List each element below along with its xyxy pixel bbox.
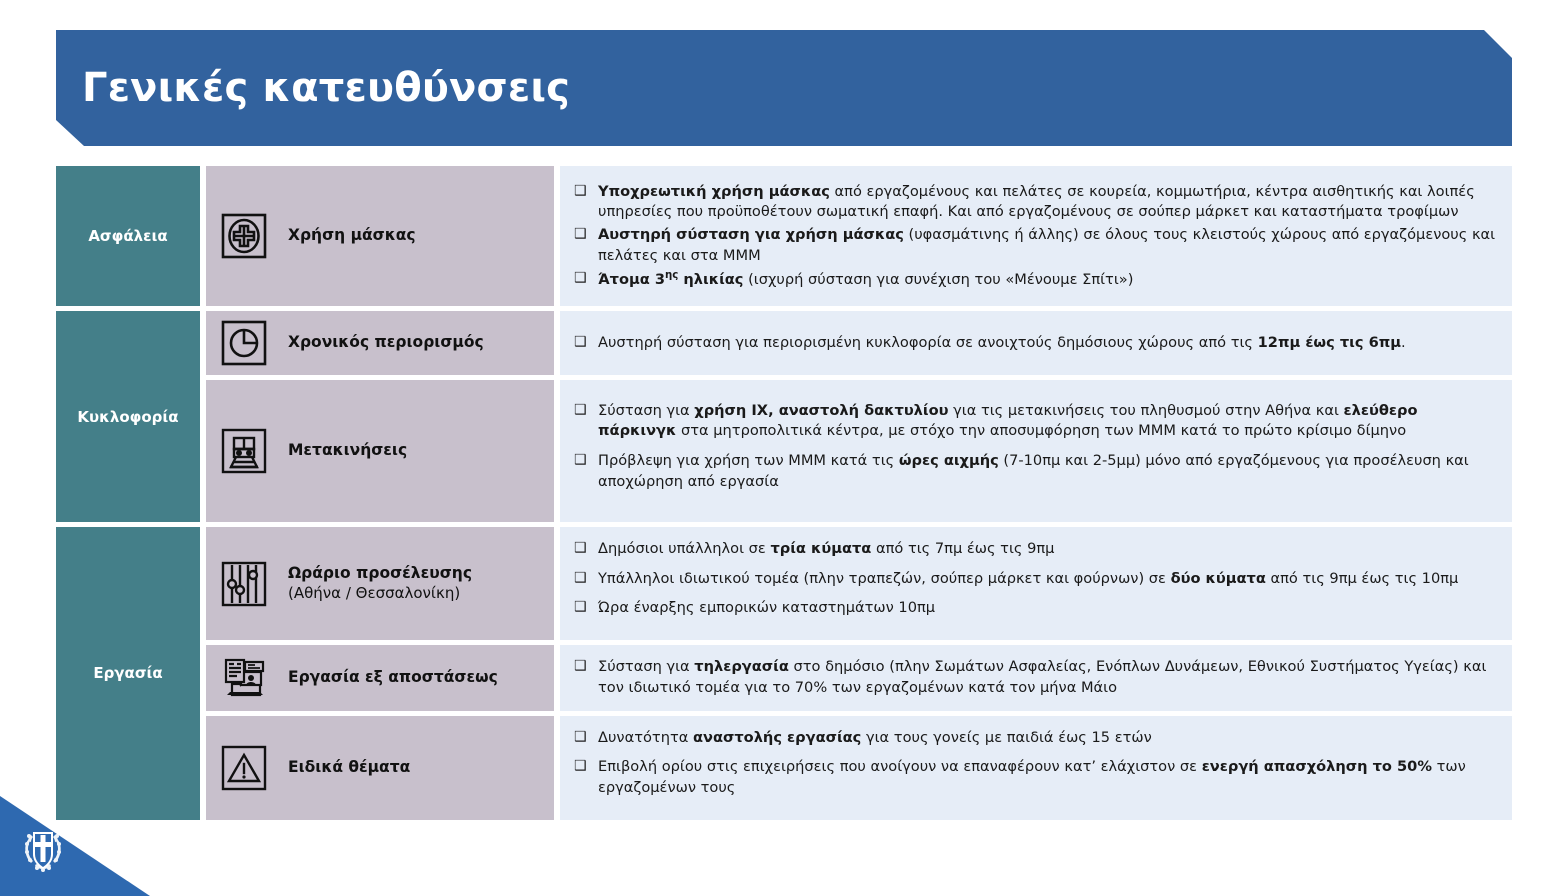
bullet-square-icon: ❑	[574, 728, 587, 748]
bullet-pre: Πρόβλεψη για χρήση των ΜΜΜ κατά τις	[598, 452, 899, 469]
bullet-square-icon: ❑	[574, 182, 587, 202]
category-label-asfaleia: Ασφάλεια	[56, 166, 200, 306]
list-item: ❑ Ώρα έναρξης εμπορικών καταστημάτων 10π…	[574, 598, 1496, 619]
bullet-pre: Υπάλληλοι ιδιωτικού τομέα (πλην τραπεζών…	[598, 570, 1171, 587]
bullet-post: για τους γονείς με παιδιά έως 15 ετών	[861, 729, 1151, 746]
icon-cell-remote[interactable]: Εργασία εξ αποστάσεως	[206, 645, 554, 710]
row-label: Ειδικά θέματα	[288, 758, 410, 778]
row-label-text: Ειδικά θέματα	[288, 758, 410, 776]
bullet-pre: Δυνατότητα	[598, 729, 693, 746]
text-cell-curfew: ❑ Αυστηρή σύσταση για περιορισμένη κυκλο…	[560, 311, 1512, 375]
bullet-bold: δύο κύματα	[1171, 570, 1266, 587]
bullet-pre: Ώρα έναρξης εμπορικών καταστημάτων 10πμ	[598, 599, 935, 616]
bullet-mid: για τις μετακινήσεις του πληθυσμού στην …	[948, 402, 1343, 419]
bullet-bold: αναστολής εργασίας	[693, 729, 861, 746]
row-label-text: Μετακινήσεις	[288, 441, 407, 459]
list-item: ❑ Δυνατότητα αναστολής εργασίας για τους…	[574, 728, 1496, 749]
section-kykloforia: Κυκλοφορία Χρονικός περιορισμός	[56, 311, 1512, 522]
train-icon	[216, 423, 272, 479]
bullet-pre: Δημόσιοι υπάλληλοι σε	[598, 540, 770, 557]
bullet-pre: Σύσταση για	[598, 658, 694, 675]
section-rows: Χρήση μάσκας ❑ Υποχρεωτική χρήση μάσκας …	[200, 166, 1512, 306]
bullet-square-icon: ❑	[574, 539, 587, 559]
row-label: Ωράριο προσέλευσης (Αθήνα / Θεσσαλονίκη)	[288, 564, 472, 603]
footer-logo-corner	[0, 796, 150, 896]
bullet-bold: ενεργή απασχόληση το 50%	[1202, 758, 1432, 775]
text-cell-mask: ❑ Υποχρεωτική χρήση μάσκας από εργαζομέν…	[560, 166, 1512, 306]
table-row[interactable]: Εργασία εξ αποστάσεως ❑ Σύσταση για τηλε…	[200, 645, 1512, 710]
bullet-bold-lead: Άτομα 3ης ηλικίας	[598, 271, 743, 288]
remote-work-icon	[216, 650, 272, 706]
bullet-pre: Αυστηρή σύσταση για περιορισμένη κυκλοφο…	[598, 334, 1258, 351]
slide-header-banner: Γενικές κατευθύνσεις	[56, 30, 1512, 146]
list-item: ❑ Σύσταση για χρήση ΙΧ, αναστολή δακτυλί…	[574, 401, 1496, 442]
category-label-ergasia: Εργασία	[56, 527, 200, 820]
row-label: Μετακινήσεις	[288, 441, 407, 461]
bullet-pre: Επιβολή ορίου στις επιχειρήσεις που ανοί…	[598, 758, 1202, 775]
icon-cell-shifts[interactable]: Ωράριο προσέλευσης (Αθήνα / Θεσσαλονίκη)	[206, 527, 554, 640]
table-row[interactable]: Ωράριο προσέλευσης (Αθήνα / Θεσσαλονίκη)…	[200, 527, 1512, 640]
page-title: Γενικές κατευθύνσεις	[56, 65, 570, 111]
bullet-rest: (ισχυρή σύσταση για συνέχιση του «Μένουμ…	[743, 271, 1133, 288]
text-cell-remote: ❑ Σύσταση για τηλεργασία στο δημόσιο (πλ…	[560, 645, 1512, 710]
warning-triangle-icon	[216, 740, 272, 796]
sliders-icon	[216, 556, 272, 612]
list-item: ❑ Υποχρεωτική χρήση μάσκας από εργαζομέν…	[574, 182, 1496, 223]
section-rows: Ωράριο προσέλευσης (Αθήνα / Θεσσαλονίκη)…	[200, 527, 1512, 820]
bullet-bold: τρία κύματα	[770, 540, 871, 557]
bullet-bold: χρήση ΙΧ, αναστολή δακτυλίου	[694, 402, 948, 419]
bullet-square-icon: ❑	[574, 451, 587, 471]
icon-cell-mask[interactable]: Χρήση μάσκας	[206, 166, 554, 306]
list-item: ❑ Επιβολή ορίου στις επιχειρήσεις που αν…	[574, 757, 1496, 798]
section-ergasia: Εργασία	[56, 527, 1512, 820]
bullet-square-icon: ❑	[574, 657, 587, 677]
category-label-kykloforia: Κυκλοφορία	[56, 311, 200, 522]
clock-icon	[216, 315, 272, 371]
directives-table: Ασφάλεια Χρήση μάσκας	[56, 166, 1512, 825]
row-label: Χρήση μάσκας	[288, 226, 416, 246]
bullet-square-icon: ❑	[574, 598, 587, 618]
text-cell-special: ❑ Δυνατότητα αναστολής εργασίας για τους…	[560, 716, 1512, 820]
text-cell-transport: ❑ Σύσταση για χρήση ΙΧ, αναστολή δακτυλί…	[560, 380, 1512, 522]
bullet-post: από τις 7πμ έως τις 9πμ	[871, 540, 1054, 557]
bullet-square-icon: ❑	[574, 569, 587, 589]
list-item: ❑ Αυστηρή σύσταση για περιορισμένη κυκλο…	[574, 333, 1496, 354]
icon-cell-special[interactable]: Ειδικά θέματα	[206, 716, 554, 820]
greek-coat-of-arms-icon	[18, 822, 68, 880]
bullet-post: .	[1401, 334, 1406, 351]
bullet-bold-lead: Υποχρεωτική χρήση μάσκας	[598, 183, 830, 200]
row-label-text: Χρήση μάσκας	[288, 226, 416, 244]
bullet-bold: τηλεργασία	[694, 658, 789, 675]
list-item: ❑ Σύσταση για τηλεργασία στο δημόσιο (πλ…	[574, 657, 1496, 698]
bullet-pre: Σύσταση για	[598, 402, 694, 419]
table-row[interactable]: Μετακινήσεις ❑ Σύσταση για χρήση ΙΧ, ανα…	[200, 380, 1512, 522]
bullet-square-icon: ❑	[574, 401, 587, 421]
row-label: Χρονικός περιορισμός	[288, 333, 484, 353]
bullet-post: στα μητροπολιτικά κέντρα, με στόχο την α…	[676, 422, 1406, 439]
icon-cell-curfew[interactable]: Χρονικός περιορισμός	[206, 311, 554, 375]
row-label-text: Χρονικός περιορισμός	[288, 333, 484, 351]
table-row[interactable]: Ειδικά θέματα ❑ Δυνατότητα αναστολής εργ…	[200, 716, 1512, 820]
row-label: Εργασία εξ αποστάσεως	[288, 668, 498, 688]
list-item: ❑ Αυστηρή σύσταση για χρήση μάσκας (υφασ…	[574, 225, 1496, 266]
table-row[interactable]: Χρονικός περιορισμός ❑ Αυστηρή σύσταση γ…	[200, 311, 1512, 375]
list-item: ❑ Άτομα 3ης ηλικίας (ισχυρή σύσταση για …	[574, 269, 1496, 291]
list-item: ❑ Πρόβλεψη για χρήση των ΜΜΜ κατά τις ώρ…	[574, 451, 1496, 492]
bullet-square-icon: ❑	[574, 269, 587, 289]
section-rows: Χρονικός περιορισμός ❑ Αυστηρή σύσταση γ…	[200, 311, 1512, 522]
bullet-bold-lead: Αυστηρή σύσταση για χρήση μάσκας	[598, 226, 904, 243]
bullet-bold: 12πμ έως τις 6πμ	[1258, 334, 1401, 351]
row-label-text: Εργασία εξ αποστάσεως	[288, 668, 498, 686]
icon-cell-transport[interactable]: Μετακινήσεις	[206, 380, 554, 522]
mask-medical-icon	[216, 208, 272, 264]
bullet-bold: ώρες αιχμής	[899, 452, 999, 469]
section-asfaleia: Ασφάλεια Χρήση μάσκας	[56, 166, 1512, 306]
list-item: ❑ Υπάλληλοι ιδιωτικού τομέα (πλην τραπεζ…	[574, 569, 1496, 590]
table-row[interactable]: Χρήση μάσκας ❑ Υποχρεωτική χρήση μάσκας …	[200, 166, 1512, 306]
slide: Γενικές κατευθύνσεις Ασφάλεια	[0, 0, 1556, 896]
bullet-post: από τις 9πμ έως τις 10πμ	[1266, 570, 1458, 587]
list-item: ❑ Δημόσιοι υπάλληλοι σε τρία κύματα από …	[574, 539, 1496, 560]
row-label-text: Ωράριο προσέλευσης	[288, 564, 472, 582]
bullet-square-icon: ❑	[574, 757, 587, 777]
row-sublabel-text: (Αθήνα / Θεσσαλονίκη)	[288, 584, 472, 603]
text-cell-shifts: ❑ Δημόσιοι υπάλληλοι σε τρία κύματα από …	[560, 527, 1512, 640]
bullet-square-icon: ❑	[574, 333, 587, 353]
bullet-square-icon: ❑	[574, 225, 587, 245]
